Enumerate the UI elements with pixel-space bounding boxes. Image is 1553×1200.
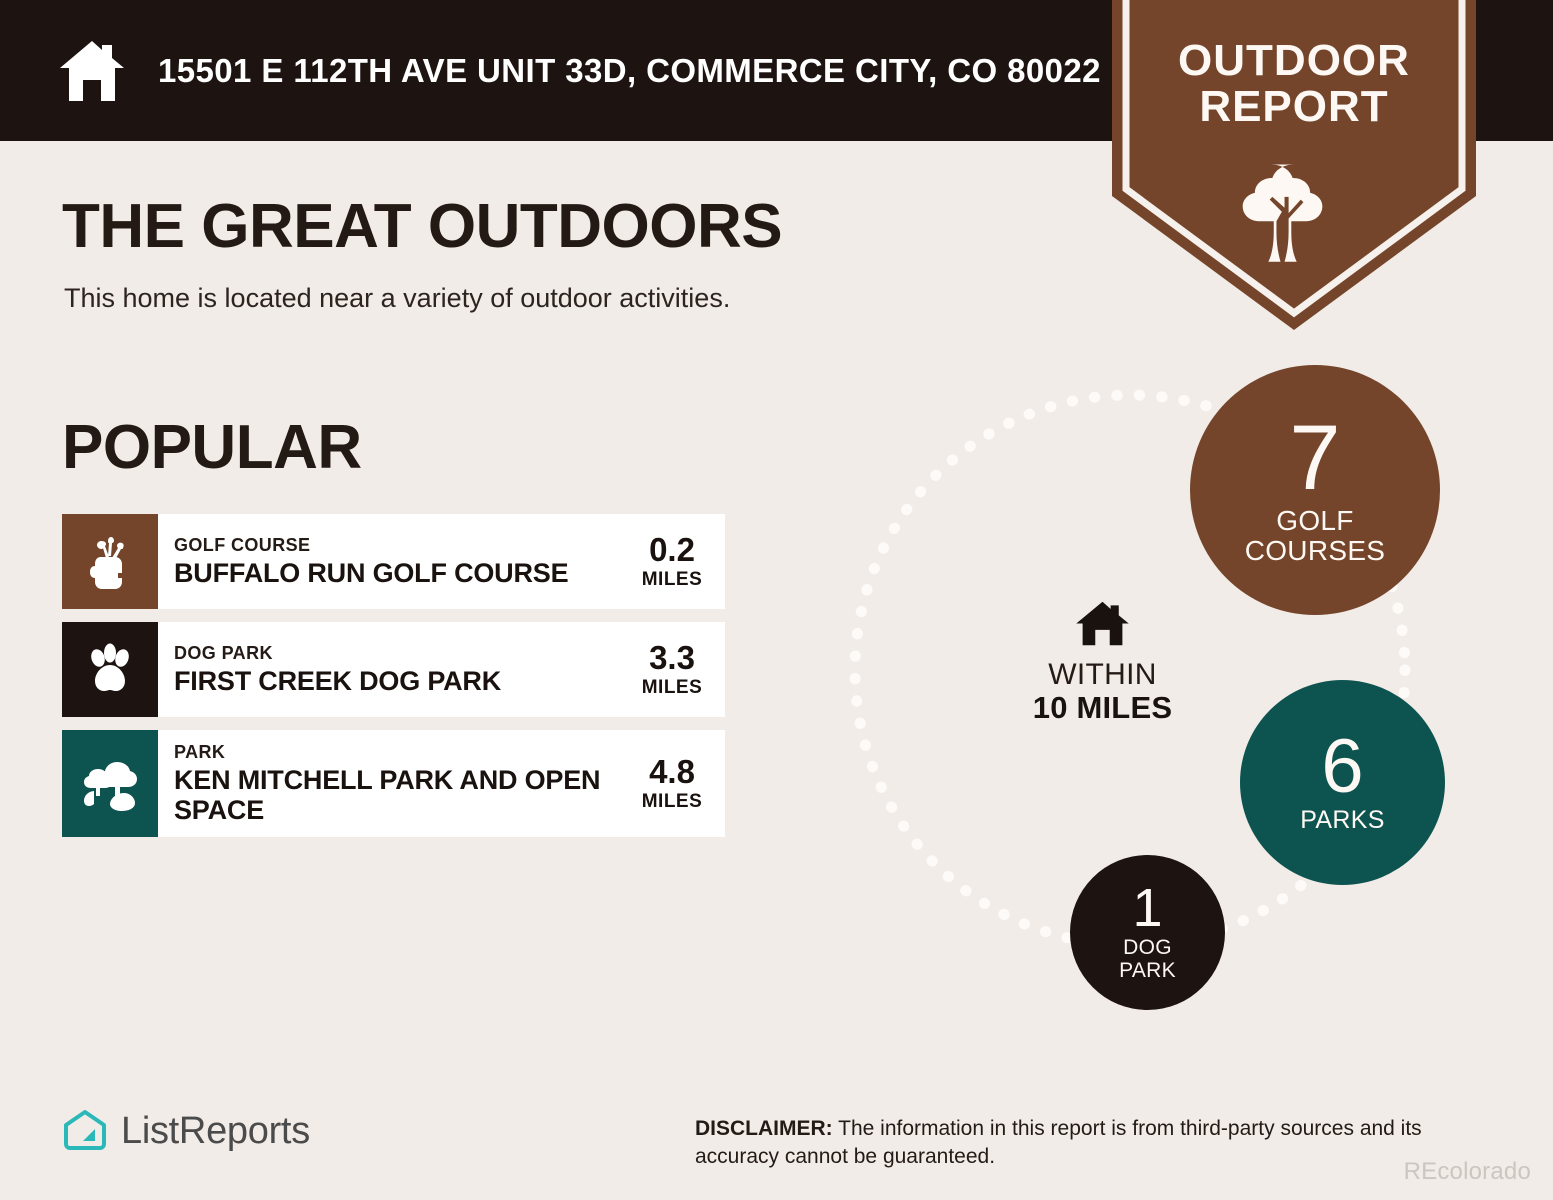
within-10-miles-diagram: WITHIN 10 MILES 7 GOLF COURSES 6 PARKS 1… bbox=[800, 340, 1500, 1040]
popular-heading: POPULAR bbox=[62, 412, 362, 483]
distance-unit: MILES bbox=[631, 677, 713, 699]
distance-value: 0.2 bbox=[631, 533, 713, 566]
stat-label-line-2: COURSES bbox=[1245, 536, 1386, 566]
list-item-name: BUFFALO RUN GOLF COURSE bbox=[174, 558, 631, 589]
list-item-body: GOLF COURSE BUFFALO RUN GOLF COURSE 0.2 … bbox=[158, 514, 725, 609]
home-icon bbox=[1075, 600, 1130, 647]
list-item-category: PARK bbox=[174, 741, 631, 764]
listreports-logo[interactable]: ListReports bbox=[62, 1108, 310, 1154]
center-miles-label: 10 MILES bbox=[1015, 691, 1190, 725]
stat-label-line-1: DOG bbox=[1119, 937, 1176, 959]
list-item[interactable]: DOG PARK FIRST CREEK DOG PARK 3.3 MILES bbox=[62, 622, 725, 717]
page-subtitle: This home is located near a variety of o… bbox=[64, 283, 730, 314]
list-item[interactable]: GOLF COURSE BUFFALO RUN GOLF COURSE 0.2 … bbox=[62, 514, 725, 609]
home-icon bbox=[56, 35, 128, 107]
list-item-name: KEN MITCHELL PARK AND OPEN SPACE bbox=[174, 765, 631, 827]
center-within-label: WITHIN bbox=[1015, 659, 1190, 691]
page-title: THE GREAT OUTDOORS bbox=[62, 191, 782, 262]
golf-bag-icon bbox=[84, 535, 136, 589]
list-item-text: DOG PARK FIRST CREEK DOG PARK bbox=[174, 642, 631, 696]
list-item-icon-tile bbox=[62, 622, 158, 717]
distance-unit: MILES bbox=[631, 569, 713, 591]
distance-value: 4.8 bbox=[631, 755, 713, 788]
stat-label: DOG PARK bbox=[1119, 937, 1176, 982]
stat-count: 1 bbox=[1132, 883, 1162, 934]
stat-label-line-1: PARKS bbox=[1300, 807, 1384, 834]
list-item-distance: 3.3 MILES bbox=[631, 641, 717, 699]
stat-label-line-1: GOLF bbox=[1245, 506, 1386, 536]
disclaimer: DISCLAIMER: The information in this repo… bbox=[695, 1115, 1495, 1171]
stat-label: PARKS bbox=[1300, 807, 1384, 834]
list-item-distance: 4.8 MILES bbox=[631, 755, 717, 813]
list-item[interactable]: PARK KEN MITCHELL PARK AND OPEN SPACE 4.… bbox=[62, 730, 725, 837]
list-item-icon-tile bbox=[62, 730, 158, 837]
list-item-category: DOG PARK bbox=[174, 642, 631, 665]
distance-unit: MILES bbox=[631, 791, 713, 813]
badge-line-1: OUTDOOR bbox=[1112, 38, 1476, 84]
badge-line-2: REPORT bbox=[1112, 84, 1476, 130]
stat-count: 6 bbox=[1321, 731, 1363, 803]
outdoor-report-badge: OUTDOOR REPORT bbox=[1112, 0, 1476, 330]
list-item-category: GOLF COURSE bbox=[174, 534, 631, 557]
list-item-body: DOG PARK FIRST CREEK DOG PARK 3.3 MILES bbox=[158, 622, 725, 717]
recolorado-watermark: REcolorado bbox=[1404, 1158, 1531, 1186]
stat-circle-dog-parks[interactable]: 1 DOG PARK bbox=[1070, 855, 1225, 1010]
list-item-name: FIRST CREEK DOG PARK bbox=[174, 666, 631, 697]
list-item-distance: 0.2 MILES bbox=[631, 533, 717, 591]
property-address: 15501 E 112TH AVE UNIT 33D, COMMERCE CIT… bbox=[158, 52, 1101, 90]
list-item-body: PARK KEN MITCHELL PARK AND OPEN SPACE 4.… bbox=[158, 730, 725, 837]
stat-label-line-2: PARK bbox=[1119, 960, 1176, 982]
listreports-house-icon bbox=[62, 1108, 108, 1154]
distance-value: 3.3 bbox=[631, 641, 713, 674]
popular-list: GOLF COURSE BUFFALO RUN GOLF COURSE 0.2 … bbox=[62, 514, 725, 850]
stat-count: 7 bbox=[1289, 415, 1340, 502]
listreports-logo-text: ListReports bbox=[121, 1110, 310, 1153]
stat-circle-golf-courses[interactable]: 7 GOLF COURSES bbox=[1190, 365, 1440, 615]
stat-label: GOLF COURSES bbox=[1245, 506, 1386, 565]
list-item-icon-tile bbox=[62, 514, 158, 609]
list-item-text: PARK KEN MITCHELL PARK AND OPEN SPACE bbox=[174, 741, 631, 826]
disclaimer-label: DISCLAIMER: bbox=[695, 1117, 833, 1140]
badge-title: OUTDOOR REPORT bbox=[1112, 38, 1476, 130]
stat-circle-parks[interactable]: 6 PARKS bbox=[1240, 680, 1445, 885]
diagram-center: WITHIN 10 MILES bbox=[1015, 600, 1190, 725]
paw-print-icon bbox=[83, 643, 137, 697]
park-trees-icon bbox=[83, 757, 137, 811]
list-item-text: GOLF COURSE BUFFALO RUN GOLF COURSE bbox=[174, 534, 631, 588]
